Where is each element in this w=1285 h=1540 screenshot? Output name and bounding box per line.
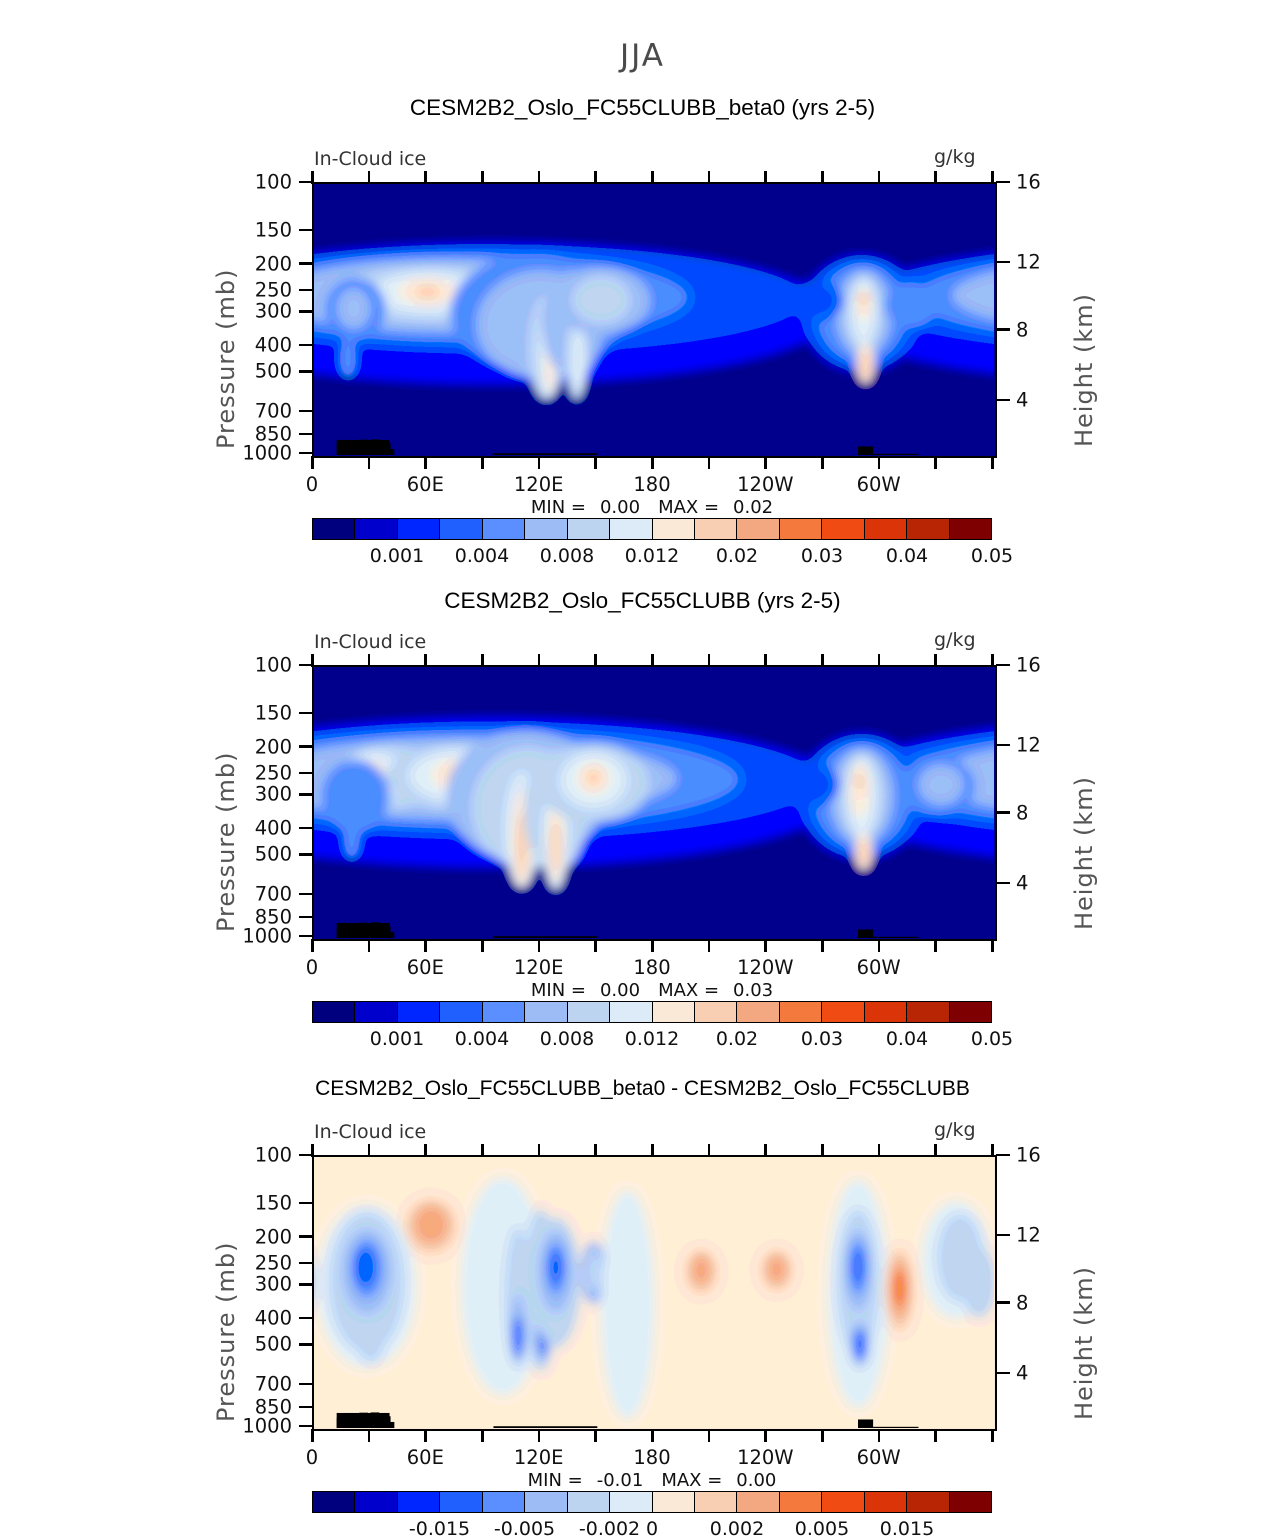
x-tick-label: 120E — [514, 956, 564, 979]
colorbar-swatch — [653, 1492, 695, 1512]
x-tick-label: 120W — [737, 473, 794, 496]
tick-pressure — [299, 664, 313, 667]
tick-bottom — [651, 1429, 654, 1442]
tick-bottom — [481, 939, 484, 952]
colorbar-tick-label: 0.03 — [801, 545, 843, 567]
tick-bottom — [424, 939, 427, 952]
tick-pressure — [299, 181, 313, 184]
pressure-tick-label: 200 — [0, 252, 292, 275]
max-value: 0.03 — [733, 980, 773, 1001]
tick-bottom — [368, 1429, 371, 1442]
tick-top — [878, 171, 881, 184]
tick-pressure — [299, 289, 313, 292]
tick-pressure — [299, 1235, 313, 1238]
tick-bottom — [821, 456, 824, 469]
colorbar-swatch — [737, 519, 779, 539]
tick-pressure — [299, 772, 313, 775]
tick-top — [594, 1144, 597, 1157]
colorbar-swatch — [355, 519, 397, 539]
tick-pressure — [299, 1317, 313, 1320]
tick-top — [821, 654, 824, 667]
tick-bottom — [311, 456, 314, 469]
colorbar-swatch — [525, 1002, 567, 1022]
x-tick-label: 180 — [633, 1446, 670, 1469]
panel-title-1: CESM2B2_Oslo_FC55CLUBB_beta0 (yrs 2-5) — [0, 95, 1285, 121]
tick-top — [538, 171, 541, 184]
tick-pressure — [299, 1425, 313, 1428]
colorbar-tick-label: 0.004 — [455, 545, 509, 567]
tick-top — [934, 1144, 937, 1157]
tick-top — [934, 171, 937, 184]
minmax-label-2: MIN =0.00MAX =0.03 — [531, 980, 773, 1001]
tick-bottom — [651, 939, 654, 952]
x-tick-label: 60W — [857, 956, 901, 979]
colorbar-swatch — [483, 1492, 525, 1512]
colorbar-swatch — [355, 1492, 397, 1512]
colorbar-tick-label: 0.012 — [625, 545, 679, 567]
tick-pressure — [299, 916, 313, 919]
tick-bottom — [991, 1429, 994, 1442]
colorbar-tick-label: 0.05 — [971, 1028, 1013, 1050]
colorbar-tick-label: 0.012 — [625, 1028, 679, 1050]
colorbar-tick-label: 0.04 — [886, 545, 928, 567]
tick-height — [996, 399, 1010, 402]
colorbar-tick-label: -0.005 — [494, 1518, 555, 1540]
colorbar-swatch — [907, 1002, 949, 1022]
colorbar-tick-label: 0.008 — [540, 545, 594, 567]
tick-height — [996, 181, 1010, 184]
tick-pressure — [299, 745, 313, 748]
tick-top — [651, 171, 654, 184]
tick-pressure — [299, 1154, 313, 1157]
max-value: 0.02 — [733, 497, 773, 518]
tick-bottom — [538, 939, 541, 952]
tick-bottom — [538, 456, 541, 469]
units-label: g/kg — [934, 629, 976, 651]
x-tick-label: 0 — [306, 956, 318, 979]
colorbar-tick-label: 0.008 — [540, 1028, 594, 1050]
tick-pressure — [299, 1283, 313, 1286]
tick-bottom — [594, 939, 597, 952]
min-value: -0.01 — [597, 1470, 644, 1491]
contour-field — [314, 667, 994, 938]
pressure-tick-label: 500 — [0, 360, 292, 383]
pressure-tick-label: 700 — [0, 400, 292, 423]
colorbar-tick-label: 0.004 — [455, 1028, 509, 1050]
colorbar-swatch — [568, 1002, 610, 1022]
pressure-tick-label: 150 — [0, 701, 292, 724]
tick-top — [424, 1144, 427, 1157]
pressure-axis-label: Pressure (mb) — [212, 752, 240, 932]
colorbar-swatch — [568, 519, 610, 539]
tick-top — [481, 1144, 484, 1157]
tick-top — [424, 654, 427, 667]
height-tick-label: 12 — [1016, 733, 1041, 756]
pressure-tick-label: 700 — [0, 1373, 292, 1396]
tick-top — [538, 654, 541, 667]
min-value: 0.00 — [600, 980, 640, 1001]
x-tick-label: 180 — [633, 473, 670, 496]
tick-top — [764, 171, 767, 184]
tick-bottom — [934, 939, 937, 952]
units-label: g/kg — [934, 146, 976, 168]
max-value: 0.00 — [736, 1470, 776, 1491]
x-tick-label: 180 — [633, 956, 670, 979]
pressure-axis-label: Pressure (mb) — [212, 269, 240, 449]
colorbar-tick-label: -0.015 — [409, 1518, 470, 1540]
pressure-tick-label: 250 — [0, 1251, 292, 1274]
tick-top — [991, 171, 994, 184]
tick-top — [538, 1144, 541, 1157]
pressure-tick-label: 250 — [0, 278, 292, 301]
height-tick-label: 16 — [1016, 1144, 1041, 1167]
tick-top — [821, 171, 824, 184]
colorbar-swatch — [483, 519, 525, 539]
colorbar-swatch — [780, 1002, 822, 1022]
tick-top — [368, 1144, 371, 1157]
min-label: MIN = — [528, 1470, 583, 1491]
min-label: MIN = — [531, 980, 586, 1001]
tick-bottom — [424, 456, 427, 469]
tick-bottom — [368, 939, 371, 952]
colorbar-swatch — [440, 1002, 482, 1022]
colorbar-tick-label: 0.05 — [971, 545, 1013, 567]
height-axis-label: Height (km) — [1070, 293, 1098, 447]
colorbar-1[interactable] — [312, 518, 992, 540]
variable-label: In-Cloud ice — [314, 148, 426, 170]
contour-field — [314, 184, 994, 455]
tick-bottom — [708, 939, 711, 952]
colorbar-swatch — [398, 519, 440, 539]
colorbar-swatch — [610, 1002, 652, 1022]
tick-top — [821, 1144, 824, 1157]
height-tick-label: 4 — [1016, 1362, 1028, 1385]
colorbar-swatch — [950, 1492, 991, 1512]
height-tick-label: 4 — [1016, 389, 1028, 412]
colorbar-tick-label: 0.04 — [886, 1028, 928, 1050]
colorbar-swatch — [653, 519, 695, 539]
tick-pressure — [299, 410, 313, 413]
tick-pressure — [299, 893, 313, 896]
height-axis-label: Height (km) — [1070, 776, 1098, 930]
tick-bottom — [878, 1429, 881, 1442]
colorbar-swatch — [610, 1492, 652, 1512]
tick-bottom — [311, 939, 314, 952]
tick-pressure — [299, 1202, 313, 1205]
pressure-tick-label: 150 — [0, 218, 292, 241]
max-label: MAX = — [658, 980, 719, 1001]
tick-top — [424, 171, 427, 184]
variable-label: In-Cloud ice — [314, 631, 426, 653]
pressure-tick-label: 100 — [0, 1144, 292, 1167]
tick-bottom — [764, 456, 767, 469]
tick-height — [996, 664, 1010, 667]
x-tick-label: 0 — [306, 1446, 318, 1469]
tick-top — [594, 171, 597, 184]
colorbar-swatch — [568, 1492, 610, 1512]
tick-pressure — [299, 1343, 313, 1346]
x-tick-label: 60E — [407, 956, 444, 979]
height-axis-label: Height (km) — [1070, 1266, 1098, 1420]
tick-pressure — [299, 262, 313, 265]
pressure-tick-label: 500 — [0, 1333, 292, 1356]
x-tick-label: 60E — [407, 473, 444, 496]
tick-bottom — [878, 939, 881, 952]
colorbar-swatch — [355, 1002, 397, 1022]
minmax-label-1: MIN =0.00MAX =0.02 — [531, 497, 773, 518]
tick-bottom — [424, 1429, 427, 1442]
x-tick-label: 0 — [306, 473, 318, 496]
height-tick-label: 4 — [1016, 872, 1028, 895]
tick-top — [764, 654, 767, 667]
units-label: g/kg — [934, 1119, 976, 1141]
colorbar-swatch — [865, 1492, 907, 1512]
panel-title-3: CESM2B2_Oslo_FC55CLUBB_beta0 - CESM2B2_O… — [0, 1077, 1285, 1101]
tick-pressure — [299, 452, 313, 455]
colorbar-swatch — [653, 1002, 695, 1022]
height-tick-label: 12 — [1016, 250, 1041, 273]
tick-top — [481, 654, 484, 667]
tick-top — [991, 654, 994, 667]
figure-root: JJACESM2B2_Oslo_FC55CLUBB_beta0 (yrs 2-5… — [0, 0, 1285, 1531]
tick-height — [996, 1154, 1010, 1157]
tick-top — [651, 654, 654, 667]
tick-top — [368, 654, 371, 667]
tick-bottom — [934, 1429, 937, 1442]
colorbar-swatch — [398, 1492, 440, 1512]
height-tick-label: 12 — [1016, 1223, 1041, 1246]
variable-label: In-Cloud ice — [314, 1121, 426, 1143]
tick-pressure — [299, 229, 313, 232]
tick-bottom — [481, 1429, 484, 1442]
tick-top — [764, 1144, 767, 1157]
plot-panel-3 — [312, 1155, 997, 1431]
tick-pressure — [299, 935, 313, 938]
colorbar-tick-label: 0.001 — [370, 545, 424, 567]
pressure-tick-label: 200 — [0, 1225, 292, 1248]
x-tick-label: 120W — [737, 1446, 794, 1469]
x-tick-label: 120W — [737, 956, 794, 979]
height-tick-label: 8 — [1016, 1291, 1028, 1314]
pressure-tick-label: 150 — [0, 1191, 292, 1214]
tick-height — [996, 1372, 1010, 1375]
colorbar-swatch — [313, 1002, 355, 1022]
colorbar-swatch — [525, 519, 567, 539]
pressure-tick-label: 500 — [0, 843, 292, 866]
colorbar-tick-label: -0.002 — [579, 1518, 640, 1540]
pressure-tick-label: 400 — [0, 1307, 292, 1330]
colorbar-3[interactable] — [312, 1491, 992, 1513]
tick-top — [368, 171, 371, 184]
colorbar-tick-label: 0.015 — [880, 1518, 934, 1540]
pressure-tick-label: 400 — [0, 817, 292, 840]
colorbar-swatch — [695, 1492, 737, 1512]
x-tick-label: 60W — [857, 1446, 901, 1469]
pressure-tick-label: 300 — [0, 1273, 292, 1296]
pressure-tick-label: 700 — [0, 883, 292, 906]
tick-bottom — [934, 456, 937, 469]
tick-bottom — [538, 1429, 541, 1442]
colorbar-swatch — [313, 519, 355, 539]
colorbar-tick-label: 0.02 — [716, 1028, 758, 1050]
tick-top — [878, 1144, 881, 1157]
x-tick-label: 120E — [514, 473, 564, 496]
tick-bottom — [594, 456, 597, 469]
height-tick-label: 8 — [1016, 801, 1028, 824]
pressure-tick-label: 300 — [0, 300, 292, 323]
colorbar-swatch — [483, 1002, 525, 1022]
tick-height — [996, 261, 1010, 264]
minmax-label-3: MIN =-0.01MAX =0.00 — [528, 1470, 777, 1491]
tick-height — [996, 328, 1010, 331]
max-label: MAX = — [658, 497, 719, 518]
colorbar-swatch — [695, 1002, 737, 1022]
tick-pressure — [299, 433, 313, 436]
tick-bottom — [594, 1429, 597, 1442]
tick-pressure — [299, 370, 313, 373]
colorbar-swatch — [398, 1002, 440, 1022]
colorbar-swatch — [907, 1492, 949, 1512]
tick-bottom — [878, 456, 881, 469]
pressure-tick-label: 400 — [0, 334, 292, 357]
tick-pressure — [299, 344, 313, 347]
height-tick-label: 16 — [1016, 171, 1041, 194]
tick-bottom — [651, 456, 654, 469]
tick-bottom — [764, 1429, 767, 1442]
colorbar-swatch — [822, 519, 864, 539]
colorbar-swatch — [822, 1002, 864, 1022]
pressure-tick-label: 1000 — [0, 442, 292, 465]
tick-bottom — [991, 456, 994, 469]
x-tick-label: 120E — [514, 1446, 564, 1469]
colorbar-2[interactable] — [312, 1001, 992, 1023]
height-tick-label: 8 — [1016, 318, 1028, 341]
tick-bottom — [708, 456, 711, 469]
tick-bottom — [764, 939, 767, 952]
pressure-tick-label: 1000 — [0, 1415, 292, 1438]
min-value: 0.00 — [600, 497, 640, 518]
tick-height — [996, 882, 1010, 885]
tick-bottom — [821, 939, 824, 952]
tick-pressure — [299, 310, 313, 313]
colorbar-swatch — [907, 519, 949, 539]
tick-pressure — [299, 793, 313, 796]
pressure-tick-label: 200 — [0, 735, 292, 758]
min-label: MIN = — [531, 497, 586, 518]
colorbar-swatch — [865, 1002, 907, 1022]
panel-title-2: CESM2B2_Oslo_FC55CLUBB (yrs 2-5) — [0, 588, 1285, 614]
tick-top — [708, 1144, 711, 1157]
colorbar-tick-label: 0.005 — [795, 1518, 849, 1540]
tick-top — [651, 1144, 654, 1157]
x-tick-label: 60W — [857, 473, 901, 496]
pressure-tick-label: 1000 — [0, 925, 292, 948]
tick-bottom — [481, 456, 484, 469]
plot-panel-2 — [312, 665, 997, 941]
colorbar-swatch — [737, 1002, 779, 1022]
tick-top — [708, 171, 711, 184]
plot-panel-1 — [312, 182, 997, 458]
colorbar-tick-label: 0 — [646, 1518, 658, 1540]
colorbar-swatch — [737, 1492, 779, 1512]
colorbar-swatch — [822, 1492, 864, 1512]
pressure-tick-label: 300 — [0, 783, 292, 806]
pressure-tick-label: 100 — [0, 171, 292, 194]
tick-pressure — [299, 1262, 313, 1265]
colorbar-swatch — [950, 519, 991, 539]
x-tick-label: 60E — [407, 1446, 444, 1469]
colorbar-swatch — [865, 519, 907, 539]
tick-bottom — [708, 1429, 711, 1442]
tick-pressure — [299, 1383, 313, 1386]
tick-height — [996, 1301, 1010, 1304]
max-label: MAX = — [661, 1470, 722, 1491]
tick-bottom — [821, 1429, 824, 1442]
pressure-tick-label: 250 — [0, 761, 292, 784]
colorbar-swatch — [950, 1002, 991, 1022]
tick-height — [996, 811, 1010, 814]
tick-top — [481, 171, 484, 184]
colorbar-tick-label: 0.001 — [370, 1028, 424, 1050]
contour-field — [314, 1157, 994, 1428]
colorbar-swatch — [780, 519, 822, 539]
pressure-tick-label: 100 — [0, 654, 292, 677]
tick-pressure — [299, 827, 313, 830]
tick-top — [594, 654, 597, 667]
colorbar-tick-label: 0.002 — [710, 1518, 764, 1540]
tick-height — [996, 744, 1010, 747]
colorbar-swatch — [780, 1492, 822, 1512]
tick-top — [708, 654, 711, 667]
pressure-axis-label: Pressure (mb) — [212, 1242, 240, 1422]
tick-top — [934, 654, 937, 667]
colorbar-swatch — [440, 519, 482, 539]
tick-top — [991, 1144, 994, 1157]
colorbar-tick-label: 0.02 — [716, 545, 758, 567]
tick-height — [996, 1234, 1010, 1237]
colorbar-swatch — [313, 1492, 355, 1512]
colorbar-swatch — [695, 519, 737, 539]
colorbar-tick-label: 0.03 — [801, 1028, 843, 1050]
tick-bottom — [368, 456, 371, 469]
tick-pressure — [299, 712, 313, 715]
tick-bottom — [311, 1429, 314, 1442]
tick-top — [878, 654, 881, 667]
tick-pressure — [299, 1406, 313, 1409]
season-title: JJA — [0, 38, 1285, 74]
colorbar-swatch — [610, 519, 652, 539]
tick-pressure — [299, 853, 313, 856]
colorbar-swatch — [525, 1492, 567, 1512]
height-tick-label: 16 — [1016, 654, 1041, 677]
colorbar-swatch — [440, 1492, 482, 1512]
tick-bottom — [991, 939, 994, 952]
